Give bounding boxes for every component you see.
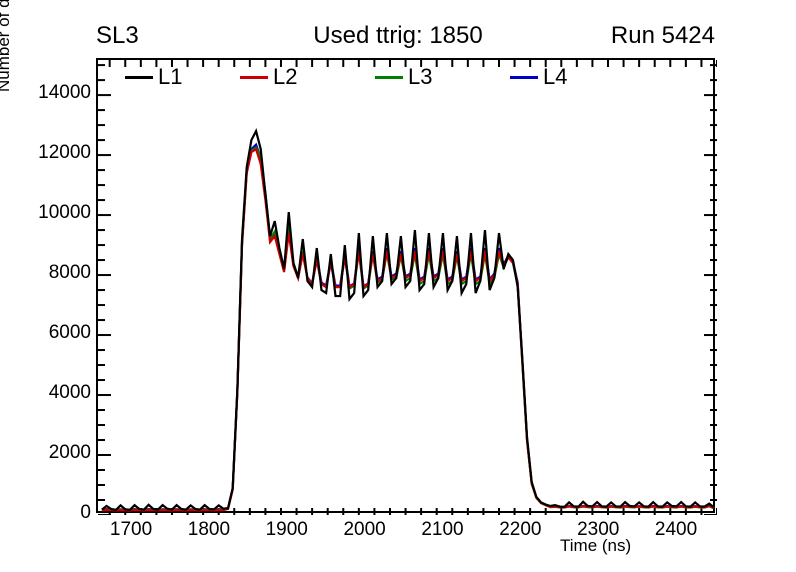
legend-item-l3[interactable]: L3 <box>375 60 432 94</box>
legend: L1L2L3L4 <box>96 60 715 94</box>
x-tick-label: 2000 <box>343 519 385 541</box>
x-axis-tick-labels: 17001800190020002100220023002400 <box>0 519 796 549</box>
legend-label: L4 <box>543 66 567 88</box>
plot-frame <box>96 58 715 513</box>
plot-series-svg <box>98 60 717 515</box>
y-tick-label: 2000 <box>49 442 91 464</box>
x-tick-label: 2400 <box>655 519 697 541</box>
legend-label: L3 <box>408 66 432 88</box>
legend-swatch-l2 <box>240 76 268 79</box>
legend-label: L1 <box>158 66 182 88</box>
y-tick-label: 8000 <box>49 262 91 284</box>
legend-swatch-l4 <box>510 76 538 79</box>
y-axis-tick-labels: 02000400060008000100001200014000 <box>0 0 91 572</box>
legend-item-l4[interactable]: L4 <box>510 60 567 94</box>
y-tick-label: 12000 <box>38 142 91 164</box>
x-tick-label: 2100 <box>421 519 463 541</box>
x-tick-label: 2300 <box>577 519 619 541</box>
x-tick-label: 1700 <box>110 519 152 541</box>
legend-item-l1[interactable]: L1 <box>125 60 182 94</box>
x-tick-label: 1900 <box>266 519 308 541</box>
plot-canvas: SL3 Used ttrig: 1850 Run 5424 Number of … <box>0 0 796 572</box>
legend-swatch-l1 <box>125 76 153 79</box>
y-tick-label: 4000 <box>49 382 91 404</box>
title-right: Run 5424 <box>0 24 715 48</box>
legend-label: L2 <box>273 66 297 88</box>
y-tick-label: 14000 <box>38 82 91 104</box>
legend-swatch-l3 <box>375 76 403 79</box>
y-tick-label: 10000 <box>38 202 91 224</box>
legend-item-l2[interactable]: L2 <box>240 60 297 94</box>
x-tick-label: 1800 <box>188 519 230 541</box>
y-tick-label: 6000 <box>49 322 91 344</box>
x-tick-label: 2200 <box>499 519 541 541</box>
